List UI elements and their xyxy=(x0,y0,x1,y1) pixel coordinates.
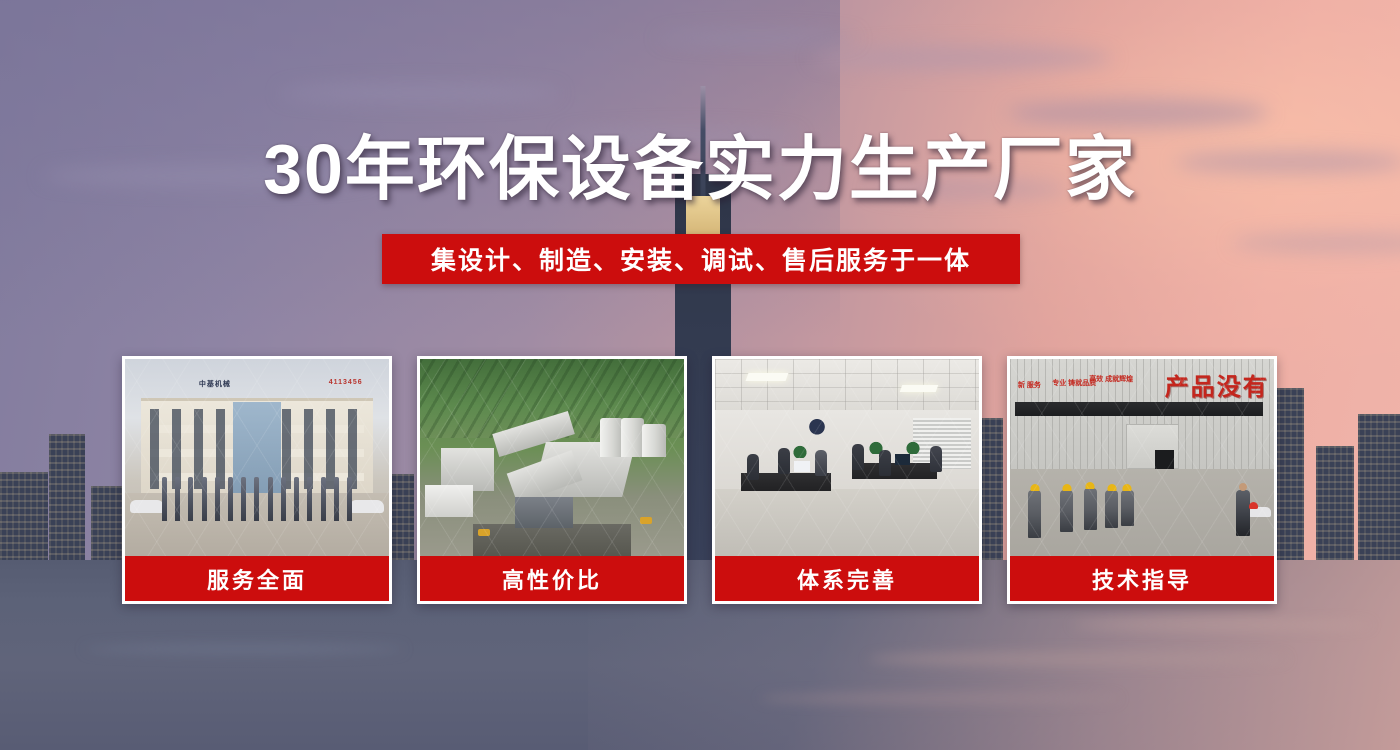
promo-banner: 30年环保设备实力生产厂家 集设计、制造、安装、调试、售后服务于一体 中基机械 … xyxy=(0,0,1400,750)
card-caption-text: 高性价比 xyxy=(502,563,602,595)
feature-card[interactable]: 产品没有 新 服务 专业 铸就品质 高效 成就辉煌 技术指导 xyxy=(1007,356,1277,604)
feature-card-list: 中基机械 4113456 服务全面 xyxy=(122,356,1278,604)
factory-slogan: 新 服务 xyxy=(1018,381,1041,390)
subtitle-text: 集设计、制造、安装、调试、售后服务于一体 xyxy=(431,241,971,277)
factory-banner-text: 产品没有 xyxy=(1165,367,1269,402)
cloud xyxy=(1008,98,1268,128)
feature-card[interactable]: 体系完善 xyxy=(712,356,982,604)
feature-card[interactable]: 中基机械 4113456 服务全面 xyxy=(122,356,392,604)
cloud xyxy=(812,45,1112,71)
subtitle-banner: 集设计、制造、安装、调试、售后服务于一体 xyxy=(382,234,1020,284)
water-streak xyxy=(760,693,1120,704)
card-caption: 高性价比 xyxy=(420,556,684,601)
card-photo-factory-workers: 产品没有 新 服务 专业 铸就品质 高效 成就辉煌 xyxy=(1010,359,1274,556)
card-photo-headquarters: 中基机械 4113456 xyxy=(125,359,389,556)
headline-title: 30年环保设备实力生产厂家 xyxy=(0,133,1400,207)
card-caption-text: 体系完善 xyxy=(797,563,897,595)
card-caption: 服务全面 xyxy=(125,556,389,601)
card-caption: 技术指导 xyxy=(1010,556,1274,601)
card-photo-industrial-plant xyxy=(420,359,684,556)
building-phone-text: 4113456 xyxy=(329,379,363,386)
card-caption: 体系完善 xyxy=(715,556,979,601)
factory-slogan: 高效 成就辉煌 xyxy=(1089,375,1133,384)
cloud xyxy=(280,83,560,103)
water-streak xyxy=(868,652,1288,666)
building-sign-text: 中基机械 xyxy=(199,379,231,389)
card-photo-office-interior xyxy=(715,359,979,556)
water-streak xyxy=(1072,620,1372,630)
water-streak xyxy=(84,644,404,654)
card-caption-text: 技术指导 xyxy=(1092,563,1192,595)
feature-card[interactable]: 高性价比 xyxy=(417,356,687,604)
cloud xyxy=(658,30,858,46)
card-caption-text: 服务全面 xyxy=(207,563,307,595)
